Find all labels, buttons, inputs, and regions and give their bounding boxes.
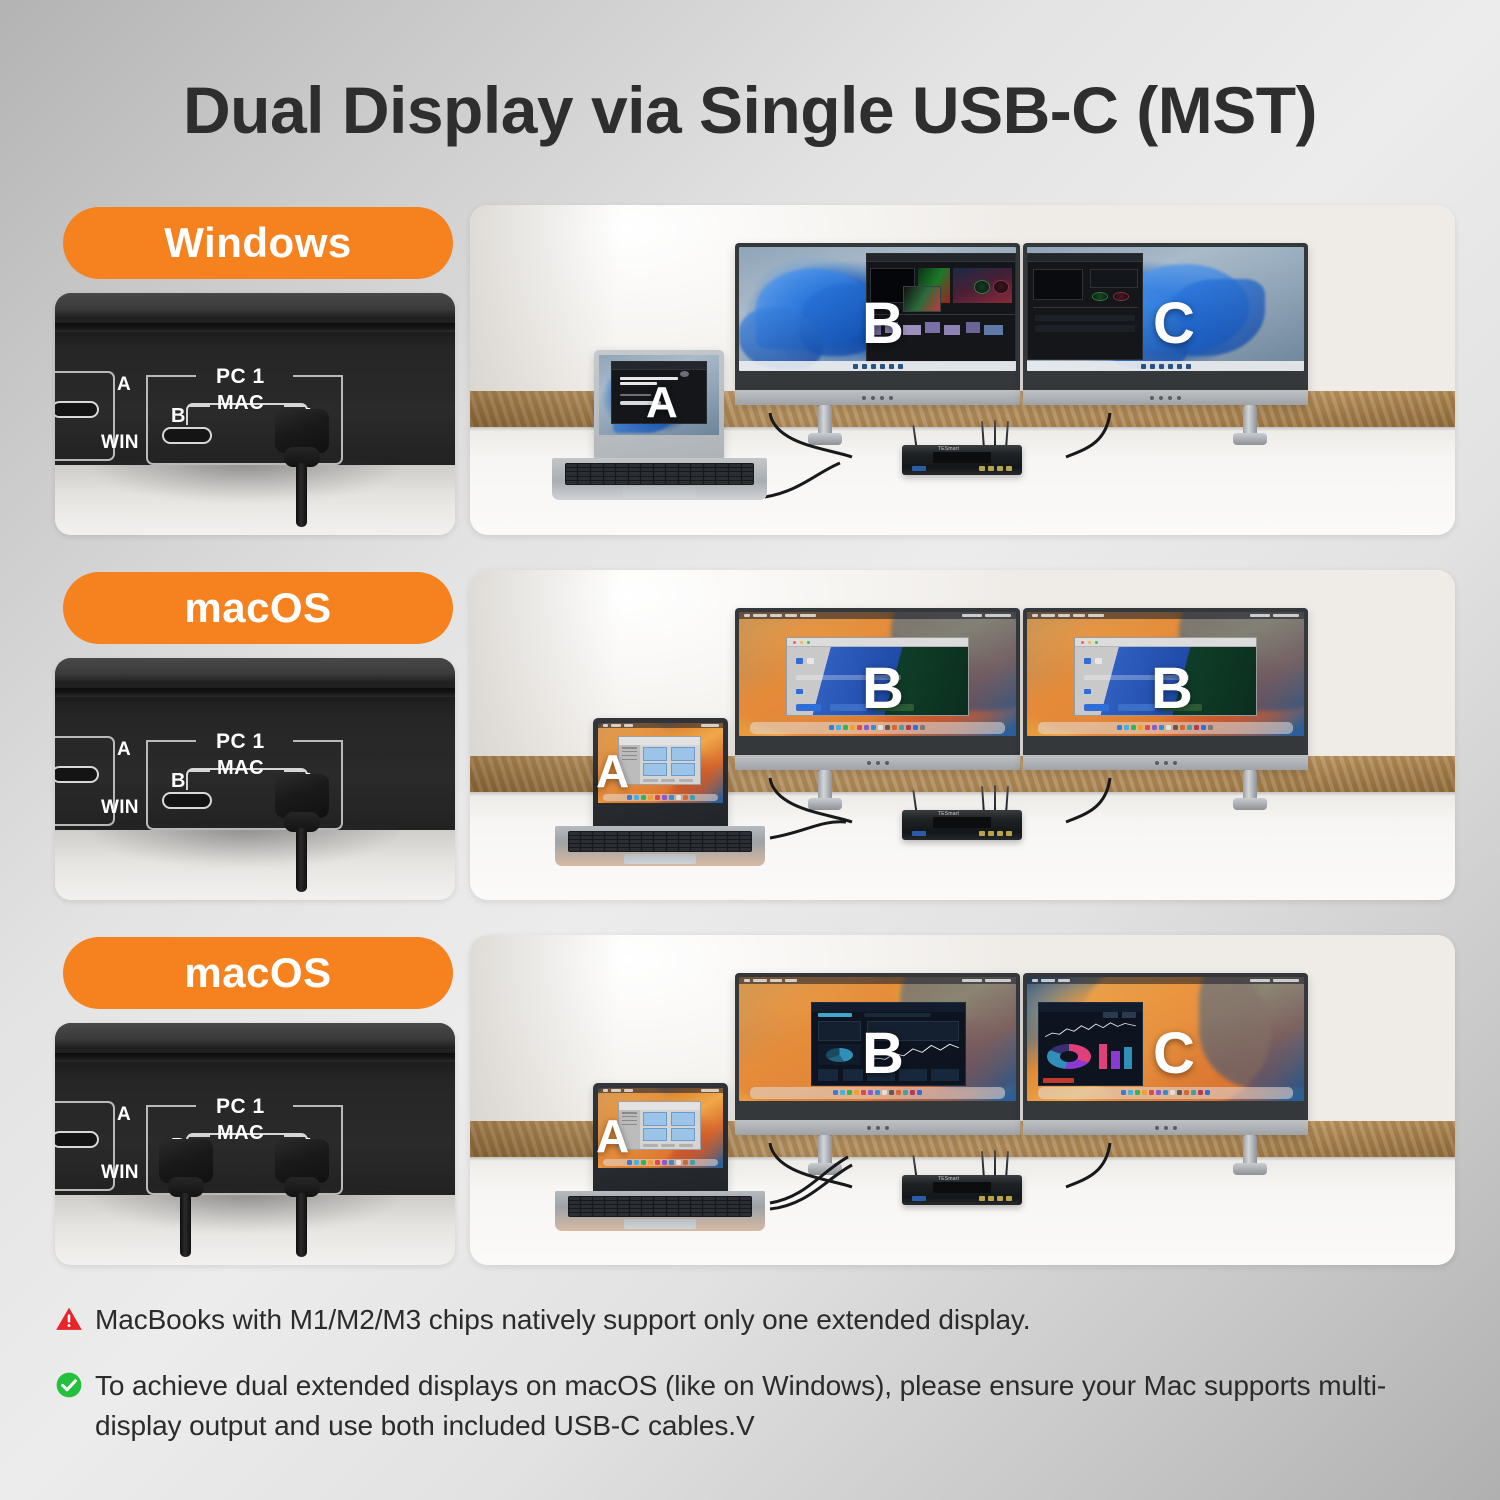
dock-icon[interactable] bbox=[634, 1160, 639, 1165]
display-thumb[interactable] bbox=[671, 747, 695, 760]
menubar-clock[interactable] bbox=[701, 724, 719, 727]
key bbox=[703, 1209, 714, 1212]
dock-icon[interactable] bbox=[627, 1160, 632, 1165]
dialog-button[interactable] bbox=[661, 779, 675, 782]
key bbox=[729, 477, 741, 480]
dock-icon[interactable] bbox=[690, 795, 695, 800]
key bbox=[604, 464, 616, 467]
port-label-pc1: PC 1 bbox=[216, 365, 265, 389]
key bbox=[691, 836, 702, 839]
key bbox=[679, 832, 690, 835]
key bbox=[569, 1201, 580, 1204]
key bbox=[593, 844, 604, 847]
key bbox=[667, 836, 678, 839]
kvm-port[interactable] bbox=[1006, 831, 1012, 836]
key bbox=[566, 477, 578, 480]
port-label-mac: MAC bbox=[217, 1122, 264, 1145]
key bbox=[728, 848, 739, 851]
device-top-edge bbox=[55, 658, 455, 684]
key bbox=[593, 1213, 604, 1216]
key bbox=[581, 1213, 592, 1216]
key bbox=[578, 481, 590, 484]
row-left-column: macOS A WIN PC 1 MAC B A bbox=[55, 935, 455, 1265]
key bbox=[630, 844, 641, 847]
key bbox=[740, 836, 751, 839]
key bbox=[642, 836, 653, 839]
key bbox=[616, 468, 628, 471]
key bbox=[667, 1197, 678, 1200]
device-shadow bbox=[95, 826, 395, 866]
dock-icon[interactable] bbox=[662, 795, 667, 800]
key bbox=[629, 464, 641, 467]
menubar-clock[interactable] bbox=[701, 1089, 719, 1092]
key bbox=[740, 1197, 751, 1200]
port-panel-photo-macos-2: A WIN PC 1 MAC B A bbox=[55, 1023, 455, 1265]
macos-dock[interactable] bbox=[603, 794, 718, 801]
key bbox=[605, 1197, 616, 1200]
key bbox=[716, 832, 727, 835]
headline-line bbox=[620, 382, 658, 385]
plug-cord bbox=[296, 828, 307, 892]
sidebar-item[interactable] bbox=[622, 1120, 636, 1121]
port-label-mac: MAC bbox=[217, 392, 264, 415]
key bbox=[729, 468, 741, 471]
device-top-edge bbox=[55, 293, 455, 319]
macos-menubar[interactable] bbox=[598, 723, 723, 728]
dock-icon[interactable] bbox=[655, 1160, 660, 1165]
key bbox=[591, 472, 603, 475]
key bbox=[618, 1205, 629, 1208]
display-thumb[interactable] bbox=[643, 747, 667, 760]
cable-monitor-b-left bbox=[770, 778, 852, 822]
key bbox=[691, 1213, 702, 1216]
port-panel-photo-windows: A WIN PC 1 MAC B A bbox=[55, 293, 455, 535]
key bbox=[616, 481, 628, 484]
laptop-trackpad[interactable] bbox=[624, 1219, 695, 1229]
displays-settings-window[interactable] bbox=[618, 1101, 701, 1151]
key bbox=[666, 477, 678, 480]
key bbox=[641, 481, 653, 484]
key bbox=[616, 464, 628, 467]
footnote-warning: MacBooks with M1/M2/M3 chips natively su… bbox=[55, 1300, 1455, 1340]
key bbox=[716, 836, 727, 839]
key bbox=[593, 836, 604, 839]
key bbox=[716, 1209, 727, 1212]
key bbox=[740, 1209, 751, 1212]
key bbox=[605, 1205, 616, 1208]
kvm-chassis: TESmart bbox=[902, 810, 1022, 840]
window-titlebar bbox=[619, 1102, 700, 1110]
key bbox=[641, 468, 653, 471]
key bbox=[703, 1201, 714, 1204]
kvm-front-panel bbox=[933, 452, 991, 463]
key bbox=[654, 481, 666, 484]
key bbox=[703, 844, 714, 847]
key bbox=[654, 836, 665, 839]
laptop-trackpad[interactable] bbox=[623, 487, 696, 498]
laptop-lid bbox=[593, 718, 728, 828]
dialog-button[interactable] bbox=[679, 1144, 693, 1147]
cable-monitor-c bbox=[1066, 1143, 1110, 1187]
key bbox=[630, 1209, 641, 1212]
key bbox=[666, 464, 678, 467]
kvm-port[interactable] bbox=[997, 831, 1003, 836]
key bbox=[654, 1197, 665, 1200]
key bbox=[618, 1197, 629, 1200]
check-circle-icon bbox=[55, 1371, 83, 1399]
key bbox=[630, 1205, 641, 1208]
kvm-port[interactable] bbox=[1006, 1196, 1012, 1201]
key bbox=[618, 1209, 629, 1212]
kvm-port[interactable] bbox=[988, 1196, 994, 1201]
usb-c-port-b[interactable] bbox=[162, 792, 212, 809]
os-row-macos-extended: macOS A WIN PC 1 MAC B A bbox=[55, 935, 1455, 1265]
key bbox=[729, 472, 741, 475]
key bbox=[666, 472, 678, 475]
key bbox=[667, 1201, 678, 1204]
key bbox=[654, 464, 666, 467]
dialog-button[interactable] bbox=[661, 1144, 675, 1147]
dialog-button[interactable] bbox=[643, 1144, 657, 1147]
sidebar-item[interactable] bbox=[622, 755, 636, 756]
menubar-item[interactable] bbox=[624, 1089, 633, 1092]
usb-c-plug-a[interactable] bbox=[275, 409, 329, 475]
port-label-b: B bbox=[171, 405, 185, 428]
usb-c-port-win[interactable] bbox=[55, 1131, 99, 1148]
kvm-port[interactable] bbox=[988, 831, 994, 836]
key bbox=[604, 468, 616, 471]
sidebar-item[interactable] bbox=[622, 1112, 636, 1113]
key bbox=[618, 848, 629, 851]
key bbox=[740, 1201, 751, 1204]
key bbox=[679, 477, 691, 480]
os-badge-macos-2: macOS bbox=[63, 937, 453, 1009]
key bbox=[691, 832, 702, 835]
key bbox=[679, 468, 691, 471]
menubar-item[interactable] bbox=[611, 1089, 621, 1092]
key bbox=[581, 840, 592, 843]
usb-c-port-win[interactable] bbox=[55, 401, 99, 418]
key bbox=[691, 848, 702, 851]
key bbox=[728, 836, 739, 839]
port-label-win: WIN bbox=[101, 797, 139, 819]
key bbox=[642, 844, 653, 847]
kvm-port-usb[interactable] bbox=[912, 831, 926, 836]
key bbox=[729, 481, 741, 484]
sidebar-item[interactable] bbox=[622, 751, 636, 752]
device-seam bbox=[55, 1053, 455, 1062]
window-titlebar bbox=[619, 737, 700, 745]
key bbox=[642, 1201, 653, 1204]
display-thumb[interactable] bbox=[643, 763, 667, 775]
port-label-mac: MAC bbox=[217, 757, 264, 780]
kvm-switch-device: TESmart bbox=[902, 427, 1022, 477]
dock-icon[interactable] bbox=[627, 795, 632, 800]
port-label-win: WIN bbox=[101, 432, 139, 454]
key bbox=[569, 1197, 580, 1200]
kvm-port[interactable] bbox=[979, 1196, 985, 1201]
key bbox=[679, 1205, 690, 1208]
key bbox=[593, 1209, 604, 1212]
dock-icon[interactable] bbox=[676, 795, 681, 800]
key bbox=[728, 832, 739, 835]
key bbox=[569, 844, 580, 847]
key bbox=[667, 1209, 678, 1212]
kvm-port[interactable] bbox=[988, 466, 994, 471]
port-label-pc1: PC 1 bbox=[216, 1095, 265, 1119]
footnotes: MacBooks with M1/M2/M3 chips natively su… bbox=[55, 1300, 1455, 1471]
key bbox=[679, 848, 690, 851]
key bbox=[716, 477, 728, 480]
key bbox=[742, 477, 754, 480]
key bbox=[703, 832, 714, 835]
usb-c-plug-b[interactable] bbox=[159, 1139, 213, 1205]
key bbox=[728, 1209, 739, 1212]
key bbox=[566, 472, 578, 475]
key bbox=[581, 832, 592, 835]
app-titlebar bbox=[612, 362, 706, 370]
key bbox=[630, 1201, 641, 1204]
key bbox=[654, 477, 666, 480]
dock-icon[interactable] bbox=[641, 795, 646, 800]
os-row-windows: Windows A WIN PC 1 MAC B A bbox=[55, 205, 1455, 535]
dialog-button[interactable] bbox=[679, 779, 693, 782]
key bbox=[581, 1209, 592, 1212]
key bbox=[604, 472, 616, 475]
kvm-port[interactable] bbox=[997, 466, 1003, 471]
macos-dock[interactable] bbox=[603, 1159, 718, 1166]
dock-icon[interactable] bbox=[648, 795, 653, 800]
key bbox=[593, 832, 604, 835]
key bbox=[742, 464, 754, 467]
kvm-port[interactable] bbox=[1006, 466, 1012, 471]
device-top-edge bbox=[55, 1023, 455, 1049]
menubar-apple-icon[interactable] bbox=[603, 724, 608, 727]
key bbox=[704, 481, 716, 484]
menubar-item[interactable] bbox=[611, 724, 621, 727]
key bbox=[728, 1201, 739, 1204]
avatar[interactable] bbox=[680, 371, 689, 378]
key bbox=[578, 468, 590, 471]
dock-icon[interactable] bbox=[690, 1160, 695, 1165]
key bbox=[728, 840, 739, 843]
browser-window[interactable] bbox=[611, 361, 707, 423]
key bbox=[629, 472, 641, 475]
key bbox=[591, 481, 603, 484]
menubar-apple-icon[interactable] bbox=[603, 1089, 608, 1092]
key bbox=[654, 468, 666, 471]
kvm-port[interactable] bbox=[979, 466, 985, 471]
sidebar-item[interactable] bbox=[622, 747, 636, 748]
cable-monitor-b-right bbox=[1066, 778, 1110, 822]
key bbox=[716, 844, 727, 847]
row-left-column: macOS A WIN PC 1 MAC B A bbox=[55, 570, 455, 900]
laptop-screen bbox=[598, 1088, 723, 1168]
laptop-macbook bbox=[555, 1083, 765, 1231]
laptop-keyboard[interactable] bbox=[568, 1196, 753, 1217]
key bbox=[703, 840, 714, 843]
kvm-port-usb[interactable] bbox=[912, 466, 926, 471]
key bbox=[630, 1213, 641, 1216]
key bbox=[691, 472, 703, 475]
cable-laptop-2 bbox=[770, 1165, 852, 1209]
laptop-keyboard[interactable] bbox=[568, 831, 753, 852]
laptop-trackpad[interactable] bbox=[624, 854, 695, 864]
laptop-windows bbox=[552, 350, 767, 500]
key bbox=[629, 481, 641, 484]
menubar-item[interactable] bbox=[624, 724, 633, 727]
kvm-front-panel bbox=[933, 817, 991, 828]
kvm-chassis: TESmart bbox=[902, 445, 1022, 475]
key bbox=[654, 1201, 665, 1204]
key bbox=[667, 832, 678, 835]
usb-c-plug-a[interactable] bbox=[275, 774, 329, 840]
displays-settings-window[interactable] bbox=[618, 736, 701, 786]
key bbox=[605, 1213, 616, 1216]
key bbox=[667, 848, 678, 851]
display-thumb[interactable] bbox=[643, 1112, 667, 1125]
laptop-lid bbox=[594, 350, 724, 460]
key bbox=[716, 848, 727, 851]
port-label-side-a: A bbox=[117, 739, 131, 761]
key bbox=[728, 1205, 739, 1208]
laptop-base bbox=[555, 826, 765, 866]
key bbox=[642, 1197, 653, 1200]
key bbox=[667, 844, 678, 847]
row-left-column: Windows A WIN PC 1 MAC B A bbox=[55, 205, 455, 535]
macos-menubar[interactable] bbox=[598, 1088, 723, 1093]
dock-icon[interactable] bbox=[676, 1160, 681, 1165]
dock-icon[interactable] bbox=[683, 795, 688, 800]
key bbox=[666, 481, 678, 484]
cable-monitor-b bbox=[770, 1143, 852, 1187]
key bbox=[716, 472, 728, 475]
key bbox=[704, 477, 716, 480]
key bbox=[716, 464, 728, 467]
key bbox=[716, 1205, 727, 1208]
key bbox=[566, 481, 578, 484]
key bbox=[679, 836, 690, 839]
key bbox=[691, 844, 702, 847]
key bbox=[740, 840, 751, 843]
kvm-port[interactable] bbox=[979, 831, 985, 836]
device-seam bbox=[55, 688, 455, 697]
key bbox=[654, 832, 665, 835]
sidebar-item[interactable] bbox=[622, 1116, 636, 1117]
sidebar-item[interactable] bbox=[622, 759, 636, 760]
dock-icon[interactable] bbox=[683, 1160, 688, 1165]
dock-icon[interactable] bbox=[648, 1160, 653, 1165]
display-thumb[interactable] bbox=[643, 1128, 667, 1140]
dock-icon[interactable] bbox=[669, 795, 674, 800]
headline-line bbox=[620, 377, 678, 380]
dock-icon[interactable] bbox=[641, 1160, 646, 1165]
key bbox=[630, 836, 641, 839]
port-label-b: B bbox=[171, 770, 185, 793]
cable-monitor-c bbox=[1066, 413, 1110, 457]
usb-c-port-b[interactable] bbox=[162, 427, 212, 444]
key bbox=[569, 840, 580, 843]
key bbox=[605, 836, 616, 839]
key bbox=[605, 832, 616, 835]
key bbox=[581, 1197, 592, 1200]
key bbox=[691, 840, 702, 843]
dialog-button[interactable] bbox=[643, 779, 657, 782]
kvm-port-row bbox=[912, 465, 1013, 472]
kvm-chassis: TESmart bbox=[902, 1175, 1022, 1205]
key bbox=[679, 1209, 690, 1212]
key bbox=[740, 848, 751, 851]
footnote-tip: To achieve dual extended displays on mac… bbox=[55, 1366, 1455, 1446]
key bbox=[618, 1201, 629, 1204]
key bbox=[629, 477, 641, 480]
port-panel-photo-macos-1: A WIN PC 1 MAC B A bbox=[55, 658, 455, 900]
os-row-macos-mirrored: macOS A WIN PC 1 MAC B A bbox=[55, 570, 1455, 900]
dock-icon[interactable] bbox=[662, 1160, 667, 1165]
laptop-keyboard[interactable] bbox=[565, 463, 754, 485]
key bbox=[716, 468, 728, 471]
key bbox=[566, 464, 578, 467]
kvm-port-usb[interactable] bbox=[912, 1196, 926, 1201]
key bbox=[679, 472, 691, 475]
laptop-macbook bbox=[555, 718, 765, 866]
key bbox=[581, 1205, 592, 1208]
key bbox=[593, 1201, 604, 1204]
key bbox=[742, 481, 754, 484]
key bbox=[691, 1209, 702, 1212]
key bbox=[728, 1197, 739, 1200]
scene-macos-mirrored: B B bbox=[470, 570, 1455, 900]
footnote-tip-text: To achieve dual extended displays on mac… bbox=[95, 1366, 1455, 1446]
key bbox=[716, 1197, 727, 1200]
dock-icon[interactable] bbox=[669, 1160, 674, 1165]
key bbox=[703, 848, 714, 851]
key bbox=[591, 464, 603, 467]
cta-button[interactable] bbox=[620, 401, 661, 405]
port-label-win: WIN bbox=[101, 1162, 139, 1184]
key bbox=[742, 472, 754, 475]
sidebar-item[interactable] bbox=[622, 1124, 636, 1125]
key bbox=[569, 832, 580, 835]
key bbox=[703, 1213, 714, 1216]
display-thumb[interactable] bbox=[671, 1128, 695, 1140]
usb-c-plug-a[interactable] bbox=[275, 1139, 329, 1205]
kvm-port[interactable] bbox=[997, 1196, 1003, 1201]
dock-icon[interactable] bbox=[634, 795, 639, 800]
key bbox=[578, 472, 590, 475]
key bbox=[740, 832, 751, 835]
display-thumb[interactable] bbox=[671, 763, 695, 775]
port-label-side-a: A bbox=[117, 1104, 131, 1126]
port-label-pc1: PC 1 bbox=[216, 730, 265, 754]
key bbox=[581, 844, 592, 847]
key bbox=[654, 848, 665, 851]
os-badge-macos-1: macOS bbox=[63, 572, 453, 644]
key bbox=[641, 477, 653, 480]
key bbox=[578, 464, 590, 467]
cable-monitor-b bbox=[770, 413, 852, 457]
key bbox=[642, 848, 653, 851]
key bbox=[642, 832, 653, 835]
key bbox=[679, 1197, 690, 1200]
device-seam bbox=[55, 323, 455, 332]
display-thumb[interactable] bbox=[671, 1112, 695, 1125]
key bbox=[618, 1213, 629, 1216]
key bbox=[667, 1205, 678, 1208]
dock-icon[interactable] bbox=[655, 795, 660, 800]
device-shadow bbox=[95, 1191, 395, 1231]
usb-c-port-win[interactable] bbox=[55, 766, 99, 783]
